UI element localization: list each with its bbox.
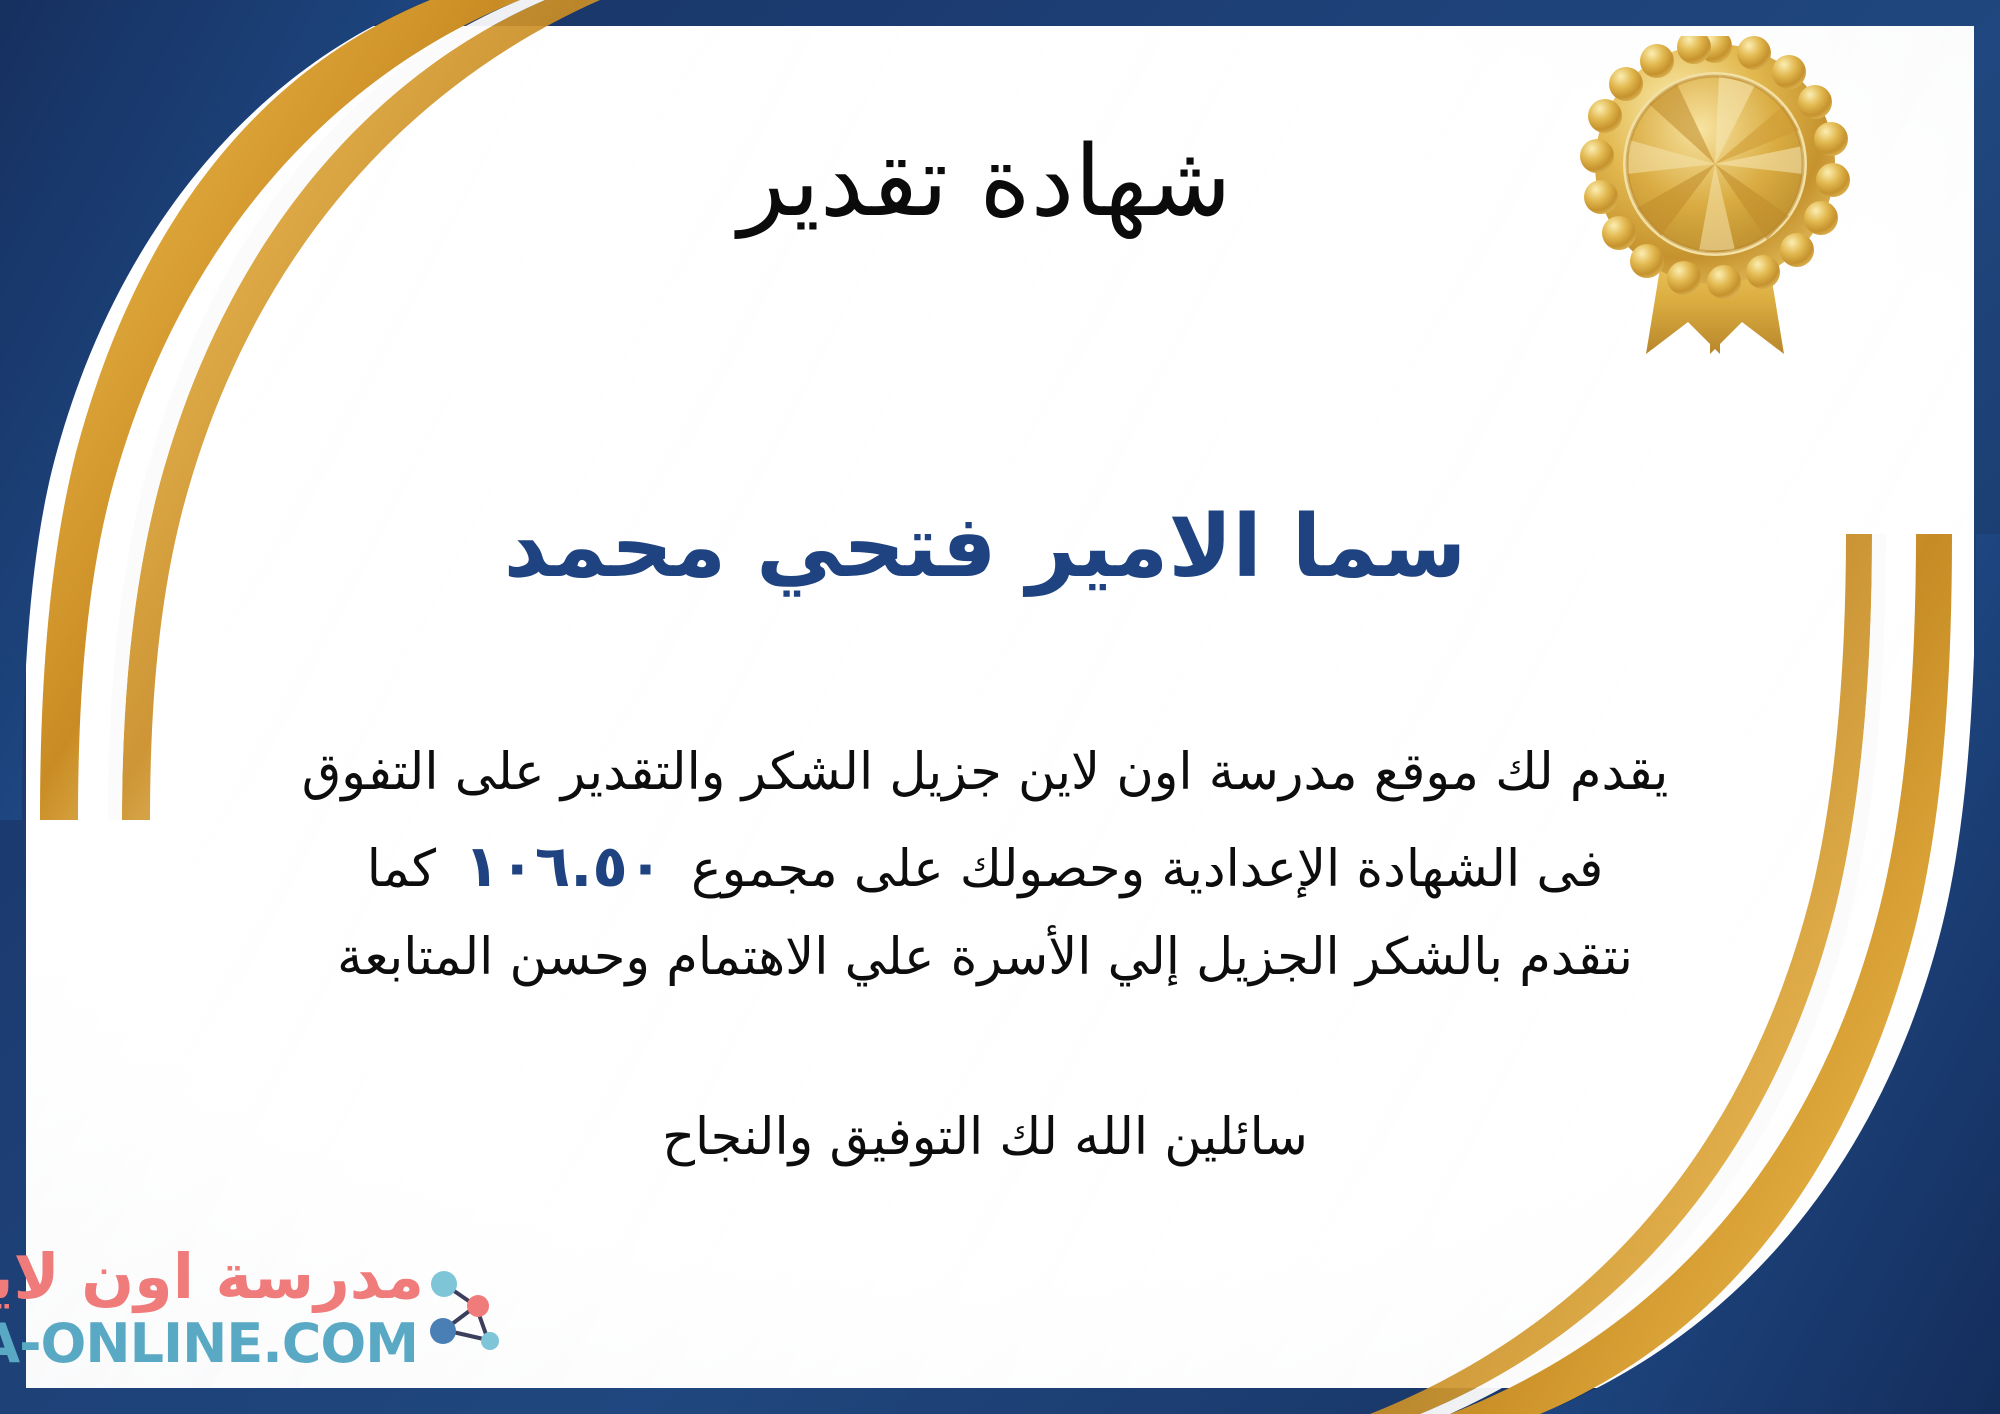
certificate-content: شهادة تقدير سما الامير فتحي محمد يقدم لك… [90, 0, 1880, 1414]
body-line-2: فى الشهادة الإعدادية وحصولك على مجموع١٠٦… [60, 817, 1910, 916]
certificate-body: يقدم لك موقع مدرسة اون لاين جزيل الشكر و… [60, 730, 1910, 1002]
brand-name-arabic: مدرسة اون لاين [0, 1240, 424, 1313]
body-line-1: يقدم لك موقع مدرسة اون لاين جزيل الشكر و… [60, 730, 1910, 817]
body-line-2-prefix: فى الشهادة الإعدادية وحصولك على مجموع [691, 840, 1603, 899]
page-title: شهادة تقدير [90, 128, 1880, 238]
certificate-canvas: شهادة تقدير سما الامير فتحي محمد يقدم لك… [0, 0, 2000, 1414]
score-value: ١٠٦.٥٠ [436, 832, 691, 900]
brand-logo[interactable]: مدرسة اون لاين MADRSA-ONLINE.COM [40, 1236, 510, 1386]
brand-domain: MADRSA-ONLINE.COM [0, 1312, 418, 1375]
network-nodes-icon [424, 1262, 508, 1358]
closing-wish: سائلين الله لك التوفيق والنجاح [90, 1108, 1880, 1167]
recipient-name: سما الامير فتحي محمد [90, 496, 1880, 599]
body-line-2-suffix: كما [367, 840, 436, 899]
body-line-3: نتقدم بالشكر الجزيل إلي الأسرة علي الاهت… [60, 915, 1910, 1002]
